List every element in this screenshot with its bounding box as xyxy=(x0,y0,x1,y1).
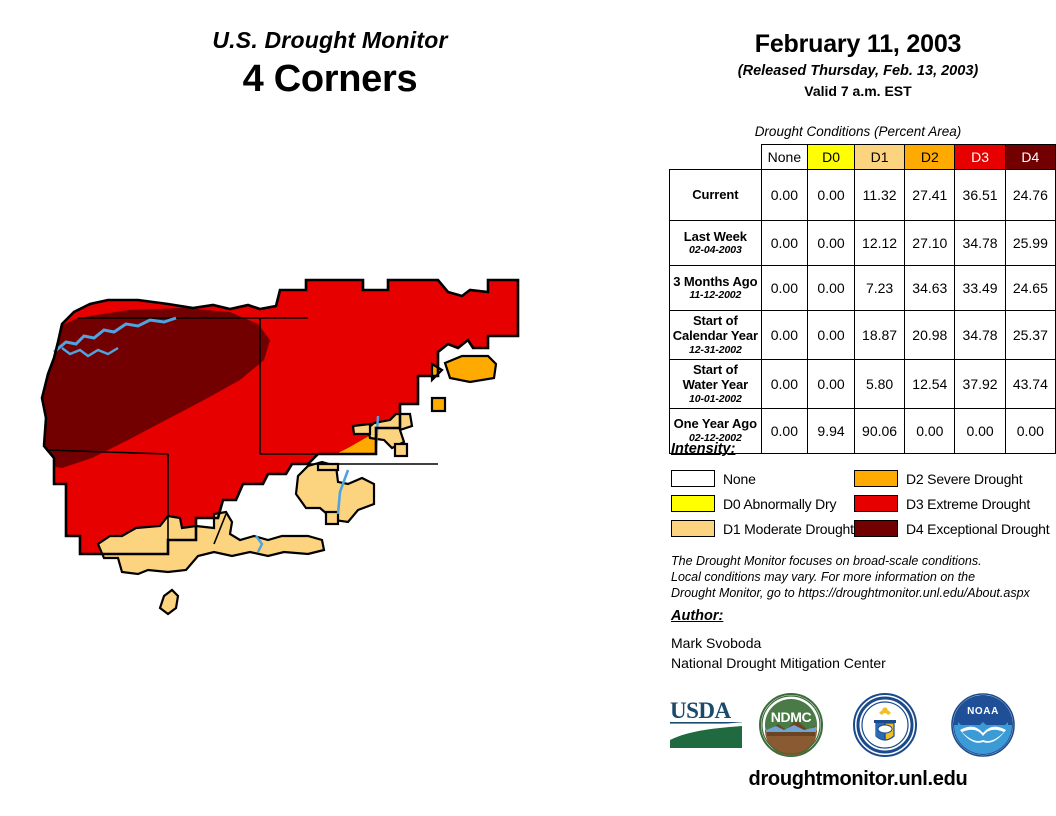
intensity-heading: Intensity: xyxy=(671,441,735,457)
legend-label-d0: D0 Abnormally Dry xyxy=(723,496,836,512)
table-corner-cell xyxy=(670,145,762,170)
row-label-date: 02-04-2003 xyxy=(672,244,759,256)
legend-label-d1: D1 Moderate Drought xyxy=(723,521,854,537)
row-label-title: 3 Months Ago xyxy=(672,275,759,290)
cell-current-d2: 27.41 xyxy=(905,170,955,221)
table-row: Start of Calendar Year 12-31-2002 0.00 0… xyxy=(670,311,1056,360)
col-header-d3: D3 xyxy=(955,145,1005,170)
cell-calyear-d1: 18.87 xyxy=(854,311,904,360)
row-label-title: Last Week xyxy=(672,230,759,245)
cell-current-d0: 0.00 xyxy=(808,170,855,221)
valid-line: Valid 7 a.m. EST xyxy=(660,83,1056,99)
col-header-d4: D4 xyxy=(1005,145,1055,170)
cell-lastweek-d0: 0.00 xyxy=(808,221,855,266)
cell-3months-d2: 34.63 xyxy=(905,266,955,311)
legend-label-d4: D4 Exceptional Drought xyxy=(906,521,1049,537)
cell-3months-d0: 0.00 xyxy=(808,266,855,311)
cell-current-d1: 11.32 xyxy=(854,170,904,221)
cell-oneyear-d3: 0.00 xyxy=(955,408,1005,453)
cell-current-d3: 36.51 xyxy=(955,170,1005,221)
col-header-none: None xyxy=(761,145,807,170)
legend-swatch-d0 xyxy=(671,495,715,512)
cell-lastweek-none: 0.00 xyxy=(761,221,807,266)
cell-wateryear-d2: 12.54 xyxy=(905,359,955,408)
released-line: (Released Thursday, Feb. 13, 2003) xyxy=(660,63,1056,79)
disclaimer-line-2: Local conditions may vary. For more info… xyxy=(671,569,1051,585)
row-label-title-line2: Water Year xyxy=(672,378,759,393)
cell-oneyear-d4: 0.00 xyxy=(1005,408,1055,453)
region-title: 4 Corners xyxy=(0,58,660,102)
usdc-seal-logo xyxy=(852,692,918,758)
cell-current-none: 0.00 xyxy=(761,170,807,221)
map-panel: U.S. Drought Monitor 4 Corners xyxy=(0,0,660,816)
cell-wateryear-d3: 37.92 xyxy=(955,359,1005,408)
legend-swatch-d1 xyxy=(671,520,715,537)
usda-logo: USDA xyxy=(668,696,746,754)
col-header-d1: D1 xyxy=(854,145,904,170)
row-label-date: 11-12-2002 xyxy=(672,289,759,301)
row-label-title-line1: Start of xyxy=(672,363,759,378)
table-caption: Drought Conditions (Percent Area) xyxy=(660,124,1056,139)
cell-lastweek-d4: 25.99 xyxy=(1005,221,1055,266)
legend-swatch-d4 xyxy=(854,520,898,537)
title-block: U.S. Drought Monitor 4 Corners xyxy=(0,28,660,102)
map-svg xyxy=(18,278,643,638)
cell-wateryear-d4: 43.74 xyxy=(1005,359,1055,408)
row-label-3-months-ago: 3 Months Ago 11-12-2002 xyxy=(670,266,762,311)
legend-column-right: D2 Severe Drought D3 Extreme Drought D4 … xyxy=(854,466,1049,541)
row-label-date: 10-01-2002 xyxy=(672,393,759,405)
legend-item-d3: D3 Extreme Drought xyxy=(854,491,1049,516)
row-label-last-week: Last Week 02-04-2003 xyxy=(670,221,762,266)
row-label-title-line2: Calendar Year xyxy=(672,329,759,344)
cell-calyear-d0: 0.00 xyxy=(808,311,855,360)
cell-lastweek-d2: 27.10 xyxy=(905,221,955,266)
legend-swatch-none xyxy=(671,470,715,487)
row-label-title: One Year Ago xyxy=(672,417,759,432)
cell-wateryear-d1: 5.80 xyxy=(854,359,904,408)
cell-oneyear-d1: 90.06 xyxy=(854,408,904,453)
legend-column-left: None D0 Abnormally Dry D1 Moderate Droug… xyxy=(671,466,854,541)
cell-3months-d1: 7.23 xyxy=(854,266,904,311)
table-row: Start of Water Year 10-01-2002 0.00 0.00… xyxy=(670,359,1056,408)
noaa-logo-text: NOAA xyxy=(967,706,999,717)
legend-item-d1: D1 Moderate Drought xyxy=(671,516,854,541)
legend-swatch-d2 xyxy=(854,470,898,487)
legend-item-none: None xyxy=(671,466,854,491)
row-label-title-line1: Start of xyxy=(672,314,759,329)
drought-conditions-table: None D0 D1 D2 D3 D4 Current 0.00 0.00 11… xyxy=(669,144,1056,454)
row-label-current: Current xyxy=(670,170,762,221)
release-date: February 11, 2003 xyxy=(660,30,1056,59)
table-row: 3 Months Ago 11-12-2002 0.00 0.00 7.23 3… xyxy=(670,266,1056,311)
col-header-d2: D2 xyxy=(905,145,955,170)
date-block: February 11, 2003 (Released Thursday, Fe… xyxy=(660,30,1056,99)
cell-wateryear-d0: 0.00 xyxy=(808,359,855,408)
cell-oneyear-none: 0.00 xyxy=(761,408,807,453)
cell-lastweek-d3: 34.78 xyxy=(955,221,1005,266)
site-url[interactable]: droughtmonitor.unl.edu xyxy=(660,768,1056,791)
disclaimer-line-1: The Drought Monitor focuses on broad-sca… xyxy=(671,553,1051,569)
ndmc-logo-text: NDMC xyxy=(771,709,812,725)
row-label-start-water-year: Start of Water Year 10-01-2002 xyxy=(670,359,762,408)
usda-logo-text: USDA xyxy=(670,698,732,723)
legend-label-none: None xyxy=(723,471,756,487)
cell-oneyear-d0: 9.94 xyxy=(808,408,855,453)
row-label-title: Current xyxy=(672,188,759,203)
cell-wateryear-none: 0.00 xyxy=(761,359,807,408)
cell-calyear-d2: 20.98 xyxy=(905,311,955,360)
disclaimer-line-3: Drought Monitor, go to https://droughtmo… xyxy=(671,585,1051,601)
author-name: Mark Svoboda xyxy=(671,633,886,653)
row-label-start-calendar-year: Start of Calendar Year 12-31-2002 xyxy=(670,311,762,360)
table-header-row: None D0 D1 D2 D3 D4 xyxy=(670,145,1056,170)
legend-swatch-d3 xyxy=(854,495,898,512)
ndmc-logo: NDMC xyxy=(758,692,824,758)
author-affiliation: National Drought Mitigation Center xyxy=(671,653,886,673)
author-block: Mark Svoboda National Drought Mitigation… xyxy=(671,633,886,674)
col-header-d0: D0 xyxy=(808,145,855,170)
logo-row: USDA NDMC xyxy=(660,690,1056,762)
table-row: Last Week 02-04-2003 0.00 0.00 12.12 27.… xyxy=(670,221,1056,266)
legend-label-d2: D2 Severe Drought xyxy=(906,471,1022,487)
info-panel: February 11, 2003 (Released Thursday, Fe… xyxy=(660,0,1056,816)
table-row: Current 0.00 0.00 11.32 27.41 36.51 24.7… xyxy=(670,170,1056,221)
legend-label-d3: D3 Extreme Drought xyxy=(906,496,1030,512)
legend-item-d4: D4 Exceptional Drought xyxy=(854,516,1049,541)
cell-3months-none: 0.00 xyxy=(761,266,807,311)
cell-calyear-d3: 34.78 xyxy=(955,311,1005,360)
cell-calyear-none: 0.00 xyxy=(761,311,807,360)
drought-map xyxy=(18,278,643,638)
cell-lastweek-d1: 12.12 xyxy=(854,221,904,266)
legend-item-d0: D0 Abnormally Dry xyxy=(671,491,854,516)
page-title: U.S. Drought Monitor xyxy=(0,28,660,52)
cell-3months-d4: 24.65 xyxy=(1005,266,1055,311)
cell-calyear-d4: 25.37 xyxy=(1005,311,1055,360)
cell-current-d4: 24.76 xyxy=(1005,170,1055,221)
disclaimer-text: The Drought Monitor focuses on broad-sca… xyxy=(671,553,1051,601)
cell-oneyear-d2: 0.00 xyxy=(905,408,955,453)
legend-item-d2: D2 Severe Drought xyxy=(854,466,1049,491)
noaa-logo: NOAA xyxy=(950,692,1016,758)
author-heading: Author: xyxy=(671,608,723,624)
cell-3months-d3: 33.49 xyxy=(955,266,1005,311)
row-label-date: 12-31-2002 xyxy=(672,344,759,356)
